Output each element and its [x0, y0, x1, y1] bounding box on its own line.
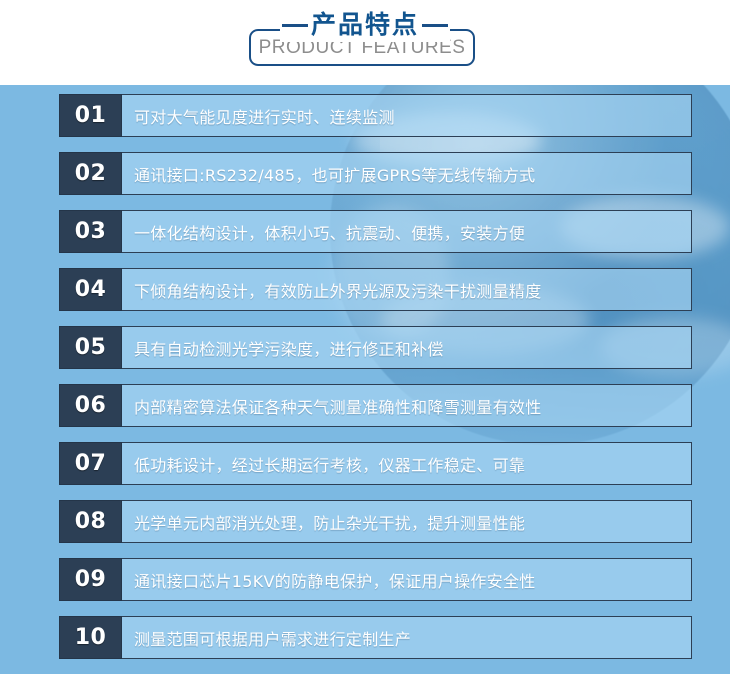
feature-row: 09通讯接口芯片15KV的防静电保护，保证用户操作安全性 [0, 558, 730, 601]
feature-row: 03一体化结构设计，体积小巧、抗震动、便携，安装方便 [0, 210, 730, 253]
feature-text: 低功耗设计，经过长期运行考核，仪器工作稳定、可靠 [122, 442, 692, 485]
features-panel: 01可对大气能见度进行实时、连续监测02通讯接口:RS232/485，也可扩展G… [0, 85, 730, 674]
title-block: PRODUCT FEATURES 产品特点 [249, 8, 481, 70]
feature-number-badge: 07 [59, 442, 122, 485]
page-title-cn: 产品特点 [308, 10, 422, 40]
feature-number-badge: 02 [59, 152, 122, 195]
feature-row: 04下倾角结构设计，有效防止外界光源及污染干扰测量精度 [0, 268, 730, 311]
feature-number-badge: 09 [59, 558, 122, 601]
title-rule-left-icon [282, 24, 308, 27]
feature-text: 通讯接口芯片15KV的防静电保护，保证用户操作安全性 [122, 558, 692, 601]
feature-text: 可对大气能见度进行实时、连续监测 [122, 94, 692, 137]
title-rule-right-icon [422, 24, 448, 27]
feature-number-badge: 08 [59, 500, 122, 543]
feature-row: 06内部精密算法保证各种天气测量准确性和降雪测量有效性 [0, 384, 730, 427]
product-features-page: PRODUCT FEATURES 产品特点 [0, 0, 730, 674]
feature-text: 下倾角结构设计，有效防止外界光源及污染干扰测量精度 [122, 268, 692, 311]
feature-text: 一体化结构设计，体积小巧、抗震动、便携，安装方便 [122, 210, 692, 253]
feature-number-badge: 05 [59, 326, 122, 369]
feature-row: 02通讯接口:RS232/485，也可扩展GPRS等无线传输方式 [0, 152, 730, 195]
feature-number-badge: 03 [59, 210, 122, 253]
feature-row: 05具有自动检测光学污染度，进行修正和补偿 [0, 326, 730, 369]
feature-number-badge: 10 [59, 616, 122, 659]
feature-text: 光学单元内部消光处理，防止杂光干扰，提升测量性能 [122, 500, 692, 543]
feature-number-badge: 01 [59, 94, 122, 137]
feature-text: 内部精密算法保证各种天气测量准确性和降雪测量有效性 [122, 384, 692, 427]
feature-text: 具有自动检测光学污染度，进行修正和补偿 [122, 326, 692, 369]
title-cn-row: 产品特点 [280, 8, 450, 42]
feature-row: 10测量范围可根据用户需求进行定制生产 [0, 616, 730, 659]
feature-text: 测量范围可根据用户需求进行定制生产 [122, 616, 692, 659]
feature-number-badge: 06 [59, 384, 122, 427]
feature-text: 通讯接口:RS232/485，也可扩展GPRS等无线传输方式 [122, 152, 692, 195]
feature-number-badge: 04 [59, 268, 122, 311]
features-list: 01可对大气能见度进行实时、连续监测02通讯接口:RS232/485，也可扩展G… [0, 85, 730, 674]
page-header: PRODUCT FEATURES 产品特点 [0, 0, 730, 85]
feature-row: 07低功耗设计，经过长期运行考核，仪器工作稳定、可靠 [0, 442, 730, 485]
feature-row: 08光学单元内部消光处理，防止杂光干扰，提升测量性能 [0, 500, 730, 543]
feature-row: 01可对大气能见度进行实时、连续监测 [0, 94, 730, 137]
